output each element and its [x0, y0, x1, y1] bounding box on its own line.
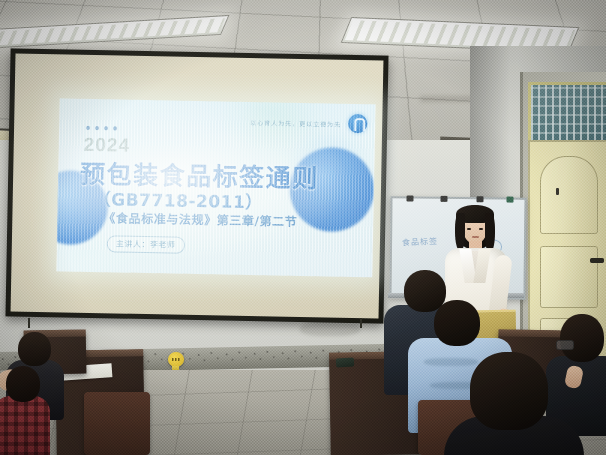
presenter-mouth	[472, 236, 479, 238]
slide-subtitle: 《食品标准与法规》第三章/第二节	[103, 209, 297, 230]
whiteboard-clip	[406, 195, 413, 201]
slide-decor-dots	[86, 126, 117, 131]
attendee-head	[560, 314, 604, 362]
slide-dot	[113, 126, 117, 130]
slide-dot	[104, 126, 108, 130]
whiteboard-clip	[476, 196, 483, 202]
slide-brand-text: 以心育人为先，更以立德为先	[250, 118, 341, 129]
door-lock[interactable]	[556, 188, 559, 195]
attendee-head	[18, 332, 51, 366]
attendee-head	[6, 366, 40, 402]
presenter-eye	[467, 228, 471, 230]
whiteboard-clip	[440, 196, 447, 202]
glasses-icon	[556, 340, 574, 350]
presenter-hair-left	[455, 213, 465, 251]
yellow-wall-socket	[168, 352, 184, 367]
whiteboard-writing: 食品标签	[402, 236, 438, 248]
grilled-transom-window	[528, 82, 606, 146]
whiteboard-clip	[506, 197, 513, 203]
presenter-eye	[479, 228, 483, 230]
projection-screen-surface: 以心育人为先，更以立德为先 2024 预包装食品标签通则 （GB7718-201…	[11, 53, 384, 318]
presenter-hair-right	[485, 213, 495, 253]
attendee-torso	[0, 396, 50, 455]
slide-presenter-badge: 主讲人：李老师	[107, 235, 185, 253]
projected-slide: 以心育人为先，更以立德为先 2024 预包装食品标签通则 （GB7718-201…	[56, 98, 375, 277]
transom-grill	[531, 85, 606, 143]
attendee-head	[434, 300, 480, 346]
door-handle[interactable]	[590, 258, 604, 263]
attendee-head	[470, 352, 548, 430]
projection-screen: 以心育人为先，更以立德为先 2024 预包装食品标签通则 （GB7718-201…	[5, 48, 388, 323]
door-panel-inset	[540, 246, 598, 308]
smartphone-on-desk[interactable]	[336, 358, 354, 368]
slide-dot	[86, 126, 90, 130]
classroom-photo-scene: 以心育人为先，更以立德为先 2024 预包装食品标签通则 （GB7718-201…	[0, 0, 606, 455]
chair-back	[84, 392, 150, 455]
blue-circle-book-logo	[348, 114, 367, 133]
door-panel-inset	[540, 156, 598, 234]
slide-dot	[95, 126, 99, 130]
screen-support-legs	[20, 318, 370, 328]
